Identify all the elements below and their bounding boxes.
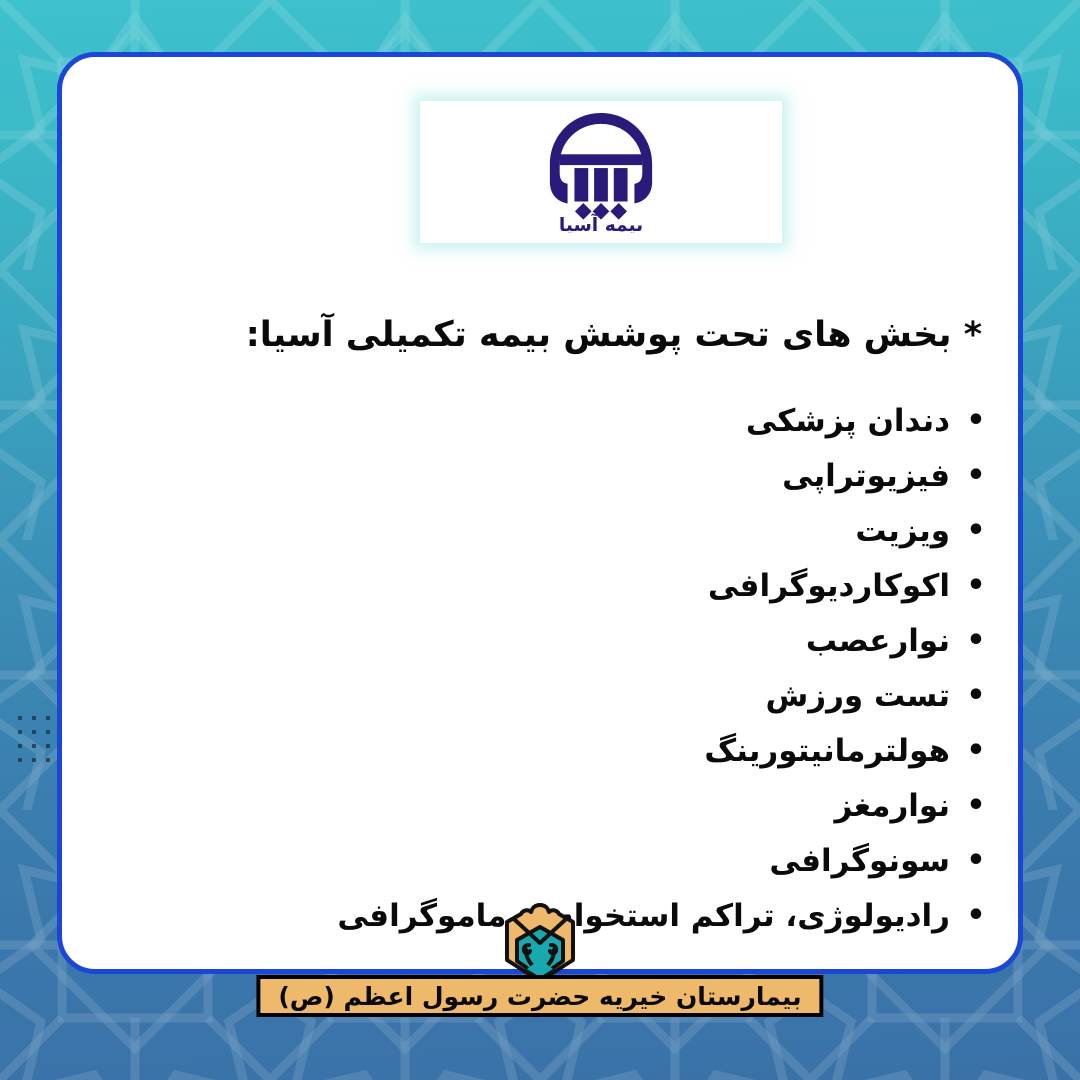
page-title: * بخش های تحت پوشش بیمه تکمیلی آسیا: xyxy=(62,315,982,355)
coverage-item-label: نوارعصب xyxy=(806,623,950,659)
coverage-item-label: فیزیوتراپی xyxy=(782,458,950,494)
list-item: • دندان پزشکی xyxy=(62,393,988,448)
bullet-icon: • xyxy=(964,736,988,766)
coverage-item-label: دندان پزشکی xyxy=(746,403,950,439)
hospital-logo xyxy=(501,903,579,983)
bimeh-asia-wordmark: بیمه آسیا xyxy=(559,212,643,233)
hospital-hexagon-heart-icon xyxy=(501,903,579,983)
bullet-icon: • xyxy=(964,846,988,876)
coverage-item-label: ویزیت xyxy=(855,513,950,549)
list-item: • اکوکاردیوگرافی xyxy=(62,558,988,613)
bullet-icon: • xyxy=(964,461,988,491)
bullet-icon: • xyxy=(964,901,988,931)
bimeh-asia-logo-panel: بیمه آسیا xyxy=(420,101,782,243)
coverage-item-label: هولترمانیتورینگ xyxy=(704,733,950,769)
bullet-icon: • xyxy=(964,571,988,601)
footer-banner-text: بیمارستان خیریه حضرت رسول اعظم (ص) xyxy=(278,984,801,1009)
list-item: • هولترمانیتورینگ xyxy=(62,723,988,778)
bullet-icon: • xyxy=(964,626,988,656)
coverage-item-label: سونوگرافی xyxy=(769,843,950,879)
list-item: • نوارعصب xyxy=(62,613,988,668)
bullet-icon: • xyxy=(964,791,988,821)
bimeh-asia-arch-logo-icon: بیمه آسیا xyxy=(542,111,660,233)
bullet-icon: • xyxy=(964,681,988,711)
list-item: • نوارمغز xyxy=(62,778,988,833)
coverage-list: • دندان پزشکی • فیزیوتراپی • ویزیت • اکو… xyxy=(62,393,988,943)
list-item: • فیزیوتراپی xyxy=(62,448,988,503)
footer-banner: بیمارستان خیریه حضرت رسول اعظم (ص) xyxy=(256,975,823,1017)
content-card: بیمه آسیا * بخش های تحت پوشش بیمه تکمیلی… xyxy=(57,52,1023,974)
coverage-item-label: نوارمغز xyxy=(834,788,950,824)
coverage-item-label: تست ورزش xyxy=(765,678,950,714)
bullet-icon: • xyxy=(964,516,988,546)
list-item: • تست ورزش xyxy=(62,668,988,723)
coverage-item-label: اکوکاردیوگرافی xyxy=(708,568,950,604)
bullet-icon: • xyxy=(964,406,988,436)
list-item: • سونوگرافی xyxy=(62,833,988,888)
coverage-item-label: رادیولوژی، تراکم استخوان و ماموگرافی xyxy=(337,898,950,934)
poster-canvas: بیمه آسیا * بخش های تحت پوشش بیمه تکمیلی… xyxy=(0,0,1080,1080)
list-item: • ویزیت xyxy=(62,503,988,558)
